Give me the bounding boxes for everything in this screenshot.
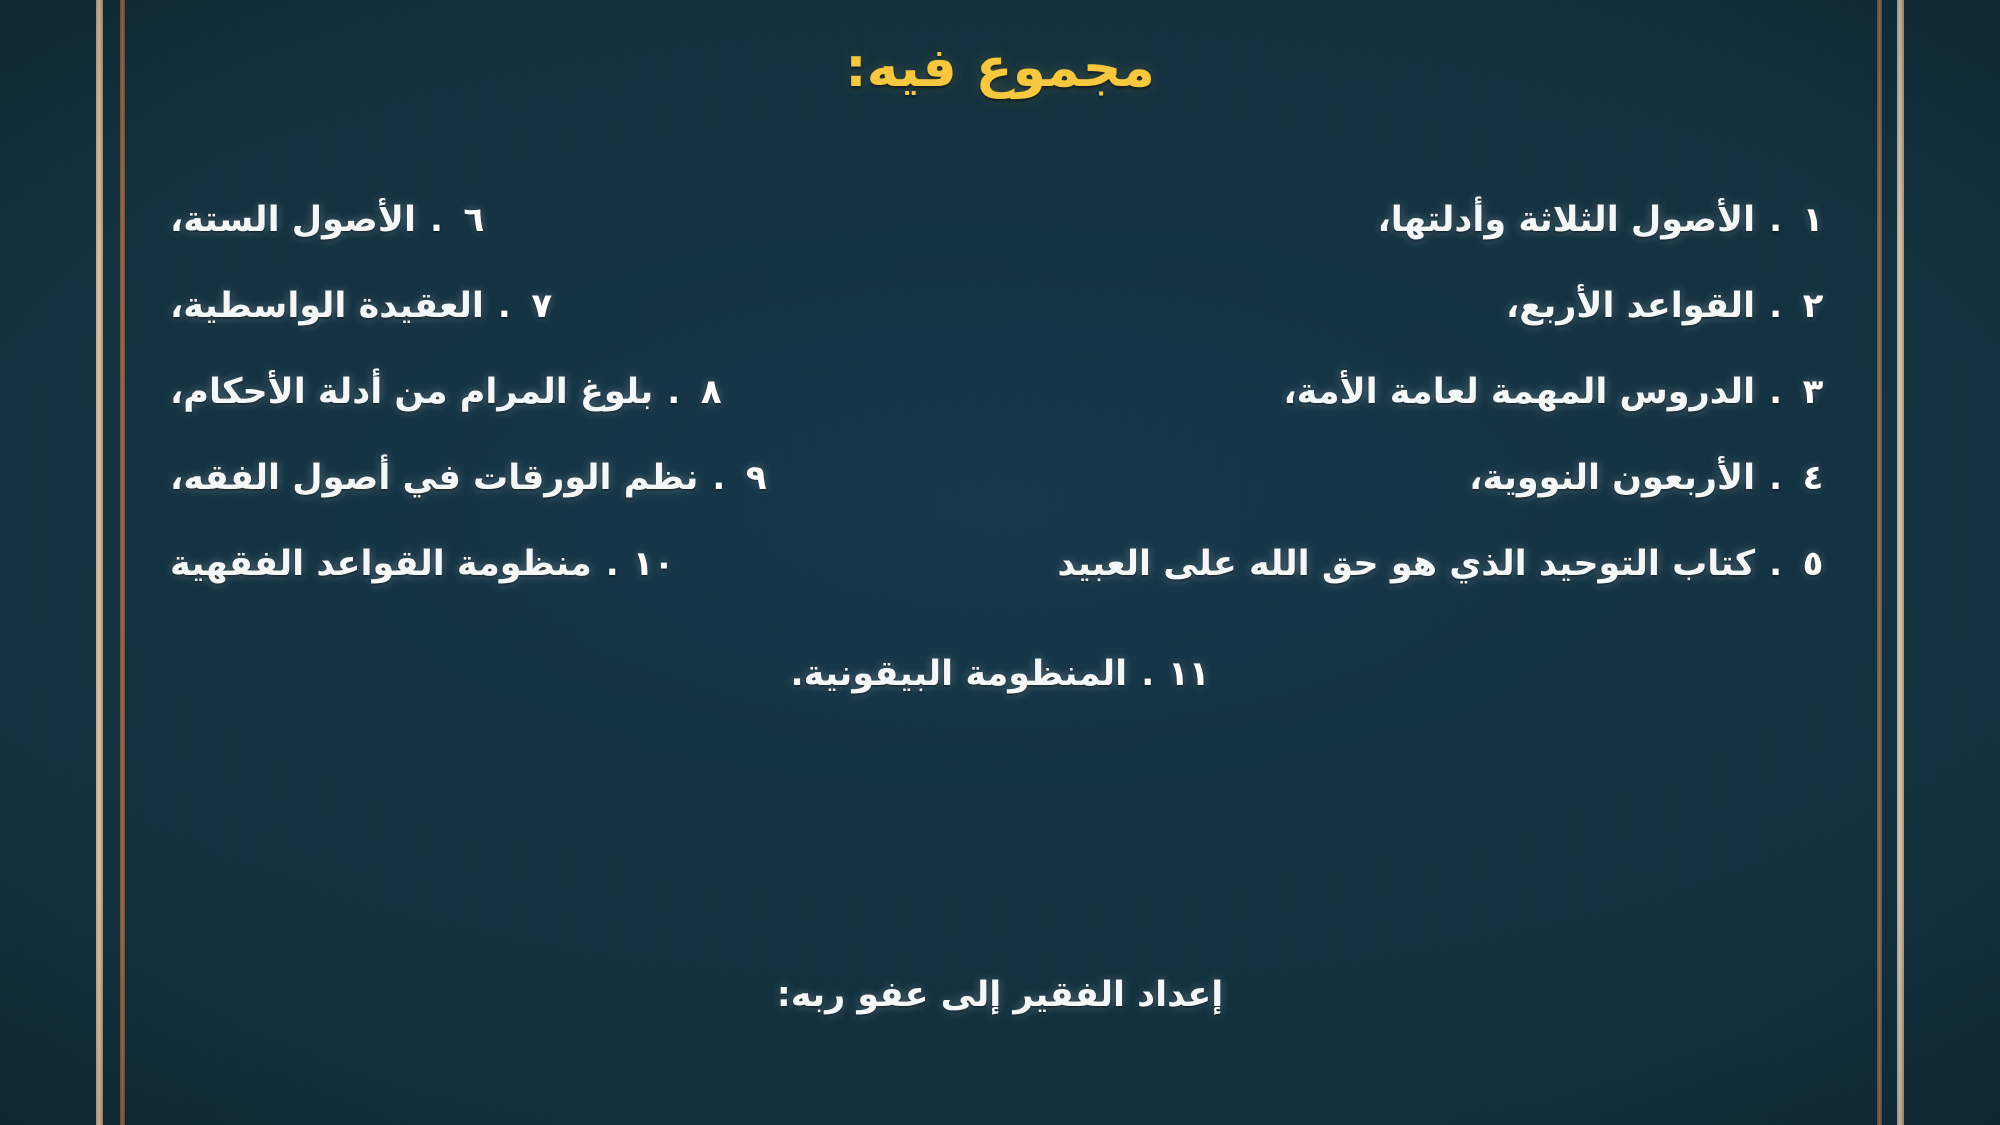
list-item-number: ٧ bbox=[525, 286, 559, 326]
list-item-number: ١١ bbox=[1168, 654, 1210, 694]
list-item-7: ٧ . العقيدة الواسطية، bbox=[170, 286, 559, 326]
list-item-8: ٨ . بلوغ المرام من أدلة الأحكام، bbox=[170, 372, 728, 412]
book-cover-page: مجموع فيه: ١ . الأصول الثلاثة وأدلتها، ٦… bbox=[0, 0, 2000, 1125]
list-row: ٢ . القواعد الأربع، ٧ . العقيدة الواسطية… bbox=[170, 286, 1830, 344]
list-item-label: بلوغ المرام من أدلة الأحكام، bbox=[170, 372, 653, 412]
list-item-number: ٢ bbox=[1796, 286, 1830, 326]
contents-list: ١ . الأصول الثلاثة وأدلتها، ٦ . الأصول ا… bbox=[170, 200, 1830, 694]
list-item-number: ١٠ bbox=[633, 544, 675, 584]
list-item-separator: . bbox=[1141, 654, 1154, 694]
list-item-label: الأربعون النووية، bbox=[1469, 458, 1755, 498]
list-item-1: ١ . الأصول الثلاثة وأدلتها، bbox=[1337, 200, 1830, 240]
page-title: مجموع فيه: bbox=[0, 36, 2000, 99]
list-item-separator: . bbox=[1769, 286, 1782, 326]
list-item-label: الأصول الستة، bbox=[170, 200, 416, 240]
list-item-label: نظم الورقات في أصول الفقه، bbox=[170, 458, 698, 498]
list-item-separator: . bbox=[712, 458, 725, 498]
right-border-rule-thin bbox=[1877, 0, 1882, 1125]
list-item-separator: . bbox=[1769, 458, 1782, 498]
list-item-3: ٣ . الدروس المهمة لعامة الأمة، bbox=[1243, 372, 1830, 412]
list-item-separator: . bbox=[1769, 372, 1782, 412]
left-border-rule-thin bbox=[120, 0, 125, 1125]
author-credit-line: إعداد الفقير إلى عفو ربه: bbox=[0, 975, 2000, 1015]
list-item-separator: . bbox=[498, 286, 511, 326]
left-border-rule-thick bbox=[96, 0, 103, 1125]
list-item-number: ٤ bbox=[1796, 458, 1830, 498]
list-item-2: ٢ . القواعد الأربع، bbox=[1466, 286, 1830, 326]
list-item-number: ٥ bbox=[1796, 544, 1830, 584]
list-item-label: القواعد الأربع، bbox=[1506, 286, 1755, 326]
list-item-separator: . bbox=[1769, 544, 1782, 584]
list-row-final: ١١ . المنظومة البيقونية. bbox=[170, 654, 1830, 694]
list-item-9: ٩ . نظم الورقات في أصول الفقه، bbox=[170, 458, 773, 498]
list-item-separator: . bbox=[667, 372, 680, 412]
list-item-label: كتاب التوحيد الذي هو حق الله على العبيد bbox=[1057, 544, 1755, 584]
list-item-number: ٣ bbox=[1796, 372, 1830, 412]
list-item-4: ٤ . الأربعون النووية، bbox=[1429, 458, 1830, 498]
list-item-10: ١٠ . منظومة القواعد الفقهية bbox=[170, 544, 674, 584]
list-item-number: ٦ bbox=[457, 200, 491, 240]
list-item-number: ٩ bbox=[739, 458, 773, 498]
list-item-label: العقيدة الواسطية، bbox=[170, 286, 484, 326]
list-item-label: الأصول الثلاثة وأدلتها، bbox=[1377, 200, 1755, 240]
list-row: ٥ . كتاب التوحيد الذي هو حق الله على الع… bbox=[170, 544, 1830, 602]
list-row: ٤ . الأربعون النووية، ٩ . نظم الورقات في… bbox=[170, 458, 1830, 516]
right-border-rule-thick bbox=[1897, 0, 1904, 1125]
list-item-separator: . bbox=[606, 544, 619, 584]
list-item-5: ٥ . كتاب التوحيد الذي هو حق الله على الع… bbox=[1017, 544, 1830, 584]
list-item-label: الدروس المهمة لعامة الأمة، bbox=[1283, 372, 1755, 412]
list-item-11: ١١ . المنظومة البيقونية. bbox=[790, 654, 1209, 694]
list-row: ٣ . الدروس المهمة لعامة الأمة، ٨ . بلوغ … bbox=[170, 372, 1830, 430]
list-item-number: ٨ bbox=[694, 372, 728, 412]
list-item-label: المنظومة البيقونية. bbox=[790, 654, 1127, 694]
list-row: ١ . الأصول الثلاثة وأدلتها، ٦ . الأصول ا… bbox=[170, 200, 1830, 258]
list-item-separator: . bbox=[430, 200, 443, 240]
list-item-separator: . bbox=[1769, 200, 1782, 240]
list-item-number: ١ bbox=[1796, 200, 1830, 240]
list-item-6: ٦ . الأصول الستة، bbox=[170, 200, 491, 240]
list-item-label: منظومة القواعد الفقهية bbox=[170, 544, 592, 584]
